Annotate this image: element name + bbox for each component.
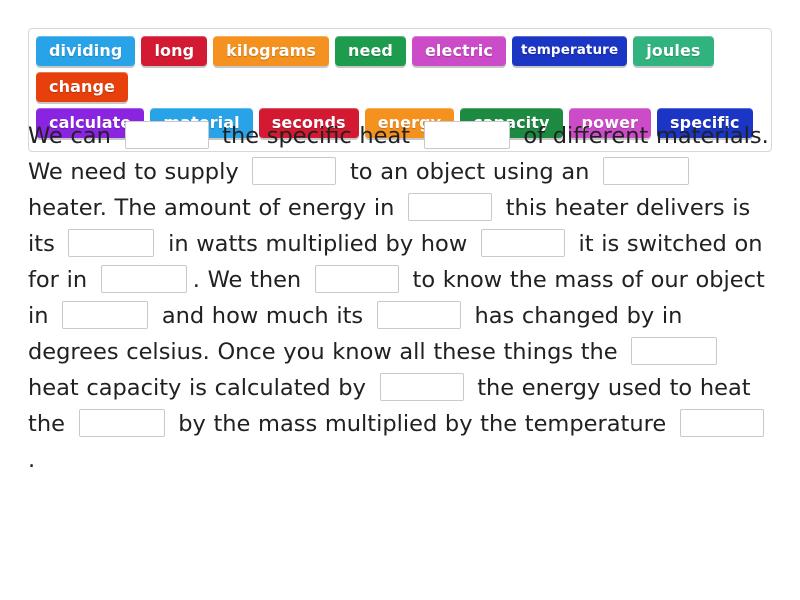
word-tile-temperature[interactable]: temperature bbox=[512, 36, 627, 66]
word-tile-joules[interactable]: joules bbox=[633, 36, 713, 66]
blank-drop-zone-6[interactable] bbox=[68, 229, 154, 257]
blank-drop-zone-7[interactable] bbox=[481, 229, 565, 257]
blank-drop-zone-15[interactable] bbox=[680, 409, 764, 437]
passage-text: the specific heat bbox=[215, 123, 418, 149]
activity-canvas: dividinglongkilogramsneedelectrictempera… bbox=[0, 0, 800, 600]
blank-drop-zone-1[interactable] bbox=[125, 121, 209, 149]
blank-drop-zone-12[interactable] bbox=[631, 337, 717, 365]
blank-drop-zone-3[interactable] bbox=[252, 157, 336, 185]
word-tile-electric[interactable]: electric bbox=[412, 36, 506, 66]
passage-text: . We then bbox=[193, 267, 309, 293]
passage-text: We can bbox=[28, 123, 119, 149]
blank-drop-zone-9[interactable] bbox=[315, 265, 399, 293]
word-tile-change[interactable]: change bbox=[36, 72, 128, 102]
blank-drop-zone-8[interactable] bbox=[101, 265, 187, 293]
blank-drop-zone-4[interactable] bbox=[603, 157, 689, 185]
blank-drop-zone-5[interactable] bbox=[408, 193, 492, 221]
passage-text: to an object using an bbox=[342, 159, 597, 185]
blank-drop-zone-11[interactable] bbox=[377, 301, 461, 329]
word-tile-kilograms[interactable]: kilograms bbox=[213, 36, 329, 66]
blank-drop-zone-13[interactable] bbox=[380, 373, 464, 401]
blank-drop-zone-14[interactable] bbox=[79, 409, 165, 437]
blank-drop-zone-10[interactable] bbox=[62, 301, 148, 329]
passage-text: by the mass multiplied by the temperatur… bbox=[171, 411, 674, 437]
cloze-passage: We can the specific heat of different ma… bbox=[28, 118, 772, 478]
blank-drop-zone-2[interactable] bbox=[424, 121, 510, 149]
passage-text: in watts multiplied by how bbox=[160, 231, 474, 257]
passage-text: and how much its bbox=[154, 303, 371, 329]
word-tile-need[interactable]: need bbox=[335, 36, 406, 66]
word-tile-long[interactable]: long bbox=[141, 36, 207, 66]
word-tile-dividing[interactable]: dividing bbox=[36, 36, 135, 66]
passage-text: . bbox=[28, 447, 35, 473]
